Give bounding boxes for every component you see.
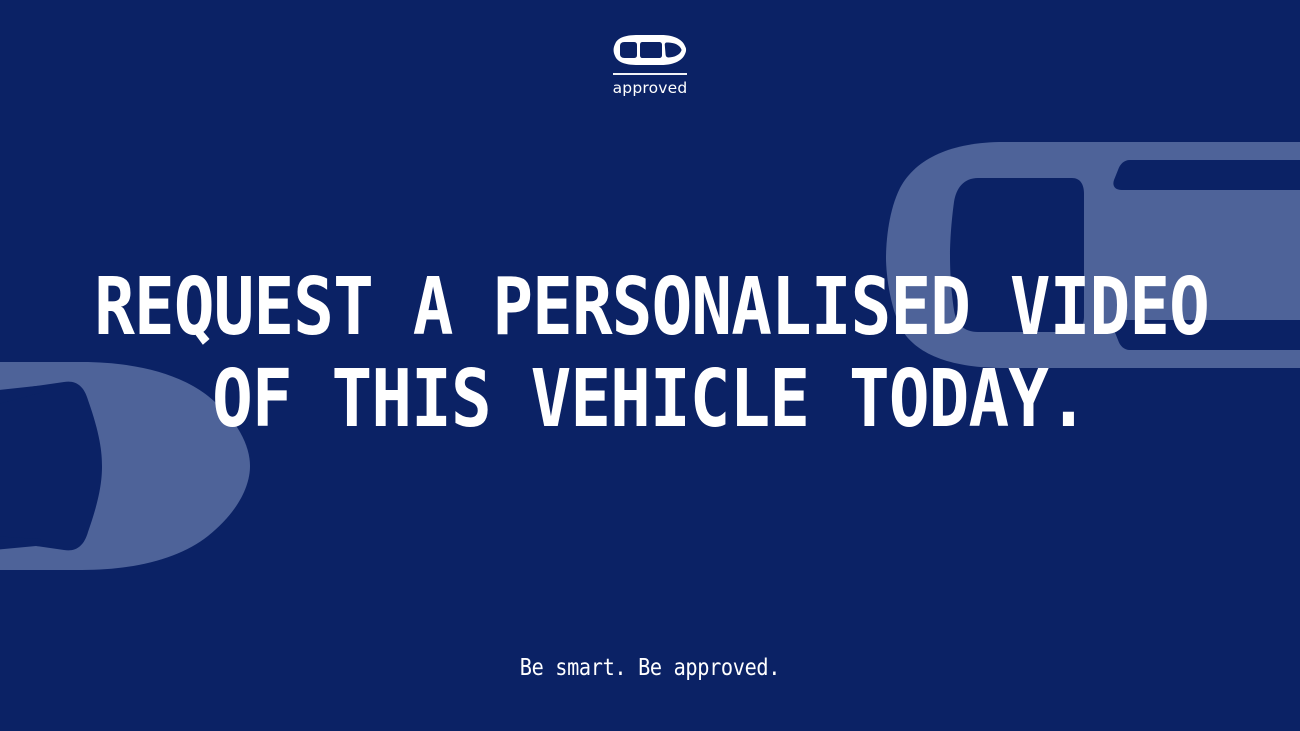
tagline: Be smart. Be approved. <box>0 654 1300 682</box>
headline-line-2: OF THIS VEHICLE TODAY. <box>94 356 1206 442</box>
tagline-text: Be smart. Be approved. <box>520 654 780 682</box>
brand-divider <box>613 73 687 75</box>
car-top-view-icon <box>613 34 687 66</box>
brand-wordmark: approved <box>613 81 688 97</box>
headline: REQUEST A PERSONALISED VIDEO OF THIS VEH… <box>0 264 1300 442</box>
brand-logo: approved <box>0 34 1300 96</box>
headline-line-1: REQUEST A PERSONALISED VIDEO <box>94 264 1206 350</box>
promo-slide: approved REQUEST A PERSONALISED VIDEO OF… <box>0 0 1300 731</box>
